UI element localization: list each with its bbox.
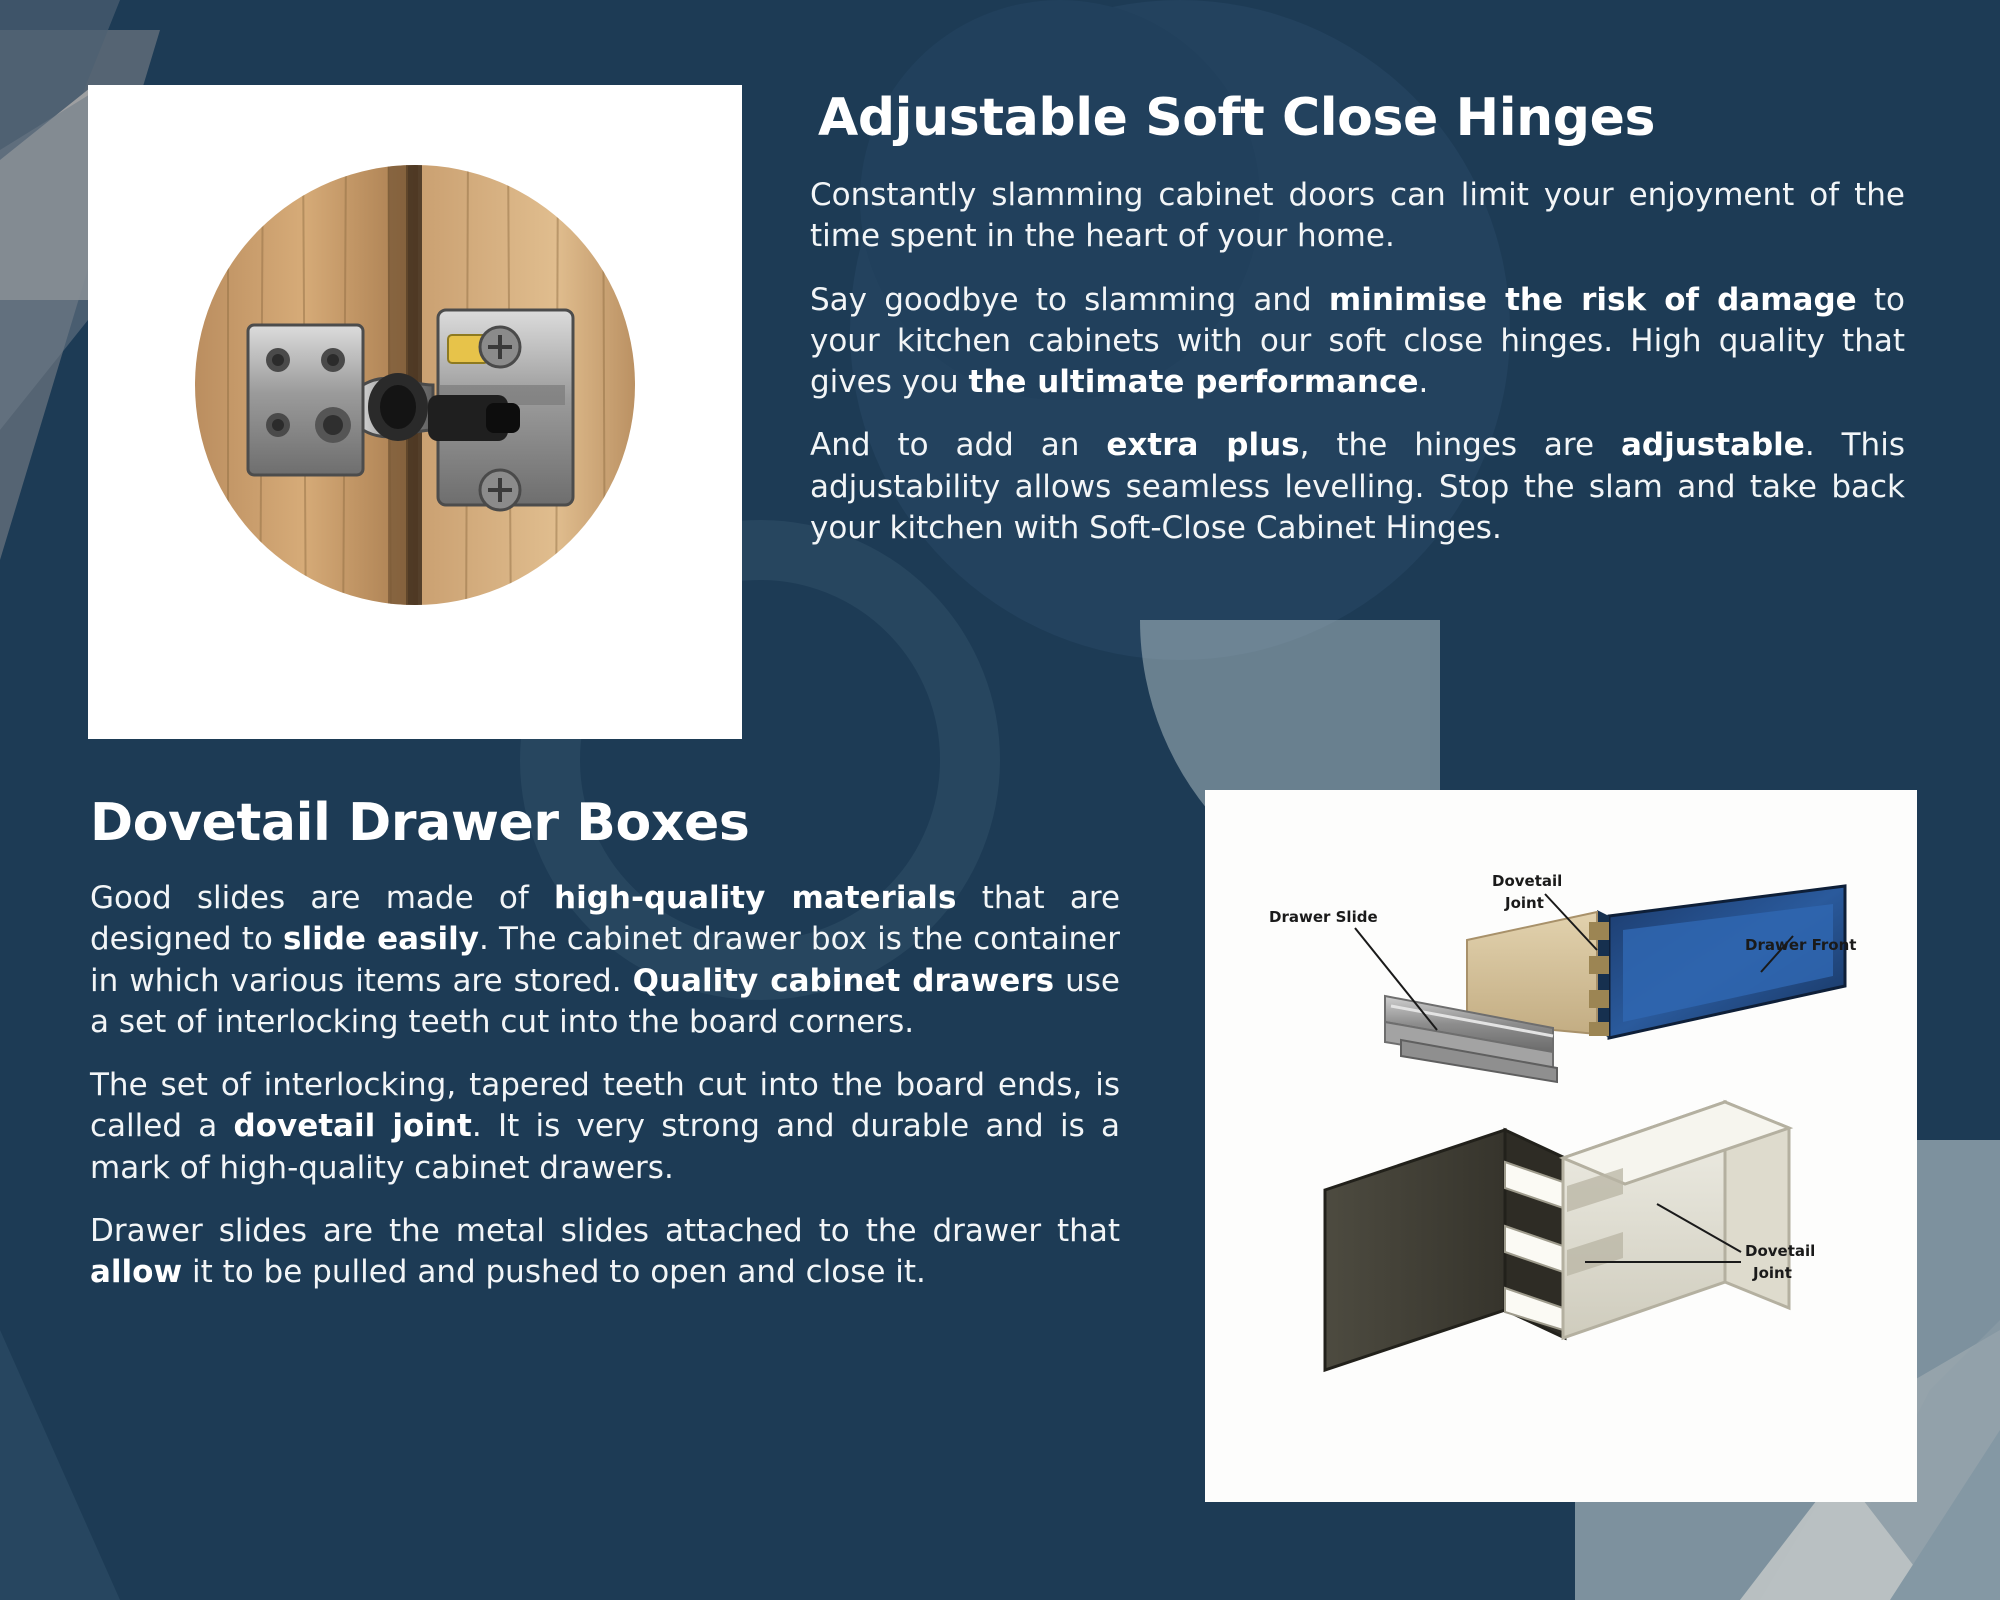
emphasis-text: high-quality materials [554,880,956,916]
dovetail-text-block: Dovetail Drawer Boxes Good slides are ma… [90,795,1120,1315]
paragraph: Drawer slides are the metal slides attac… [90,1211,1120,1293]
hinge-photo-art [88,85,742,739]
label-drawer-slide: Drawer Slide [1269,908,1378,926]
body-text: Say goodbye to slamming and [810,282,1329,318]
label-drawer-front: Drawer Front [1745,936,1856,954]
emphasis-text: minimise the risk of damage [1329,282,1857,318]
paragraph: And to add an extra plus, the hinges are… [810,425,1905,549]
body-text: Good slides are made of [90,880,554,916]
body-text: , the hinges are [1300,427,1621,463]
infographic-page: Adjustable Soft Close Hinges Constantly … [0,0,2000,1600]
paragraph: Good slides are made of high-quality mat… [90,878,1120,1043]
emphasis-text: allow [90,1254,182,1290]
dovetail-title: Dovetail Drawer Boxes [90,795,1120,852]
hinge-photo [88,85,742,739]
emphasis-text: dovetail joint [234,1108,472,1144]
paragraph: Constantly slamming cabinet doors can li… [810,175,1905,257]
dovetail-paragraphs: Good slides are made of high-quality mat… [90,878,1120,1293]
dovetail-diagram-art: Drawer Slide Dovetail Joint Drawer Front… [1205,790,1917,1502]
emphasis-text: slide easily [283,921,479,957]
emphasis-text: Quality cabinet drawers [633,963,1054,999]
dovetail-photo: Drawer Slide Dovetail Joint Drawer Front… [1205,790,1917,1502]
svg-text:Joint: Joint [1752,1264,1792,1282]
hinges-paragraphs: Constantly slamming cabinet doors can li… [810,175,1905,549]
body-text: . [1419,364,1429,400]
paragraph: Say goodbye to slamming and minimise the… [810,280,1905,404]
emphasis-text: the ultimate performance [969,364,1419,400]
svg-text:Joint: Joint [1504,894,1544,912]
hinges-text-block: Adjustable Soft Close Hinges Constantly … [810,90,1905,571]
paragraph: The set of interlocking, tapered teeth c… [90,1065,1120,1189]
emphasis-text: extra plus [1106,427,1299,463]
body-text: Drawer slides are the metal slides attac… [90,1213,1120,1249]
hinges-title: Adjustable Soft Close Hinges [810,90,1905,147]
body-text: Constantly slamming cabinet doors can li… [810,177,1905,254]
label-dovetail-joint-bottom: Dovetail [1745,1242,1815,1260]
emphasis-text: adjustable [1621,427,1805,463]
body-text: it to be pulled and pushed to open and c… [182,1254,926,1290]
label-dovetail-joint-top: Dovetail [1492,872,1562,890]
body-text: And to add an [810,427,1106,463]
